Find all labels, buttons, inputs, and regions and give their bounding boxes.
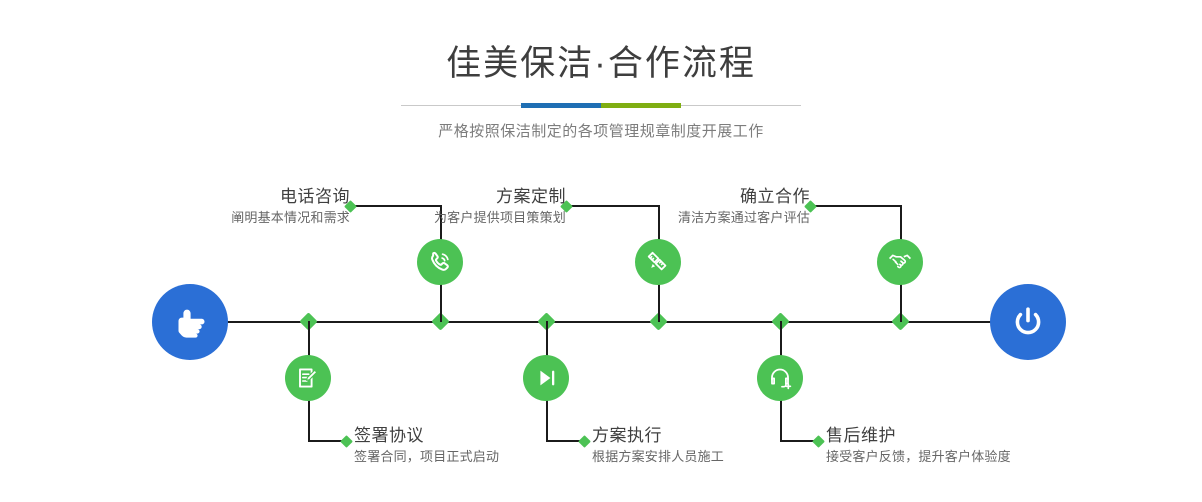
pencil-ruler-icon (645, 249, 671, 275)
handshake-icon (887, 249, 913, 275)
phone-call-icon (427, 249, 453, 275)
pointing-hand-icon (169, 301, 211, 343)
step-icon-2 (285, 355, 331, 401)
header: 佳美保洁·合作流程 严格按照保洁制定的各项管理规章制度开展工作 (0, 0, 1202, 142)
play-execute-icon (533, 365, 559, 391)
connector-arm (810, 205, 902, 207)
step-desc: 清洁方案通过客户评估 (520, 208, 810, 228)
step-icon-3 (635, 239, 681, 285)
step-label-6: 售后维护 接受客户反馈，提升客户体验度 (826, 425, 1136, 467)
step-title: 售后维护 (826, 425, 1136, 447)
label-tick (340, 435, 353, 448)
document-edit-icon (295, 365, 321, 391)
step-icon-1 (417, 239, 463, 285)
step-icon-4 (523, 355, 569, 401)
page-subtitle: 严格按照保洁制定的各项管理规章制度开展工作 (0, 122, 1202, 142)
title-divider (401, 100, 801, 112)
step-desc: 接受客户反馈，提升客户体验度 (826, 447, 1136, 467)
divider-accent-blue (521, 103, 601, 108)
timeline-end-marker (990, 284, 1066, 360)
step-icon-5 (877, 239, 923, 285)
step-title: 确立合作 (520, 186, 810, 208)
step-icon-6 (757, 355, 803, 401)
page-title: 佳美保洁·合作流程 (0, 0, 1202, 84)
power-button-icon (1007, 301, 1049, 343)
timeline-start-marker (152, 284, 228, 360)
divider-accent-green (601, 103, 681, 108)
cooperation-flow-infographic: 佳美保洁·合作流程 严格按照保洁制定的各项管理规章制度开展工作 (0, 0, 1202, 502)
headset-support-icon (767, 365, 793, 391)
step-label-5: 确立合作 清洁方案通过客户评估 (520, 186, 810, 228)
